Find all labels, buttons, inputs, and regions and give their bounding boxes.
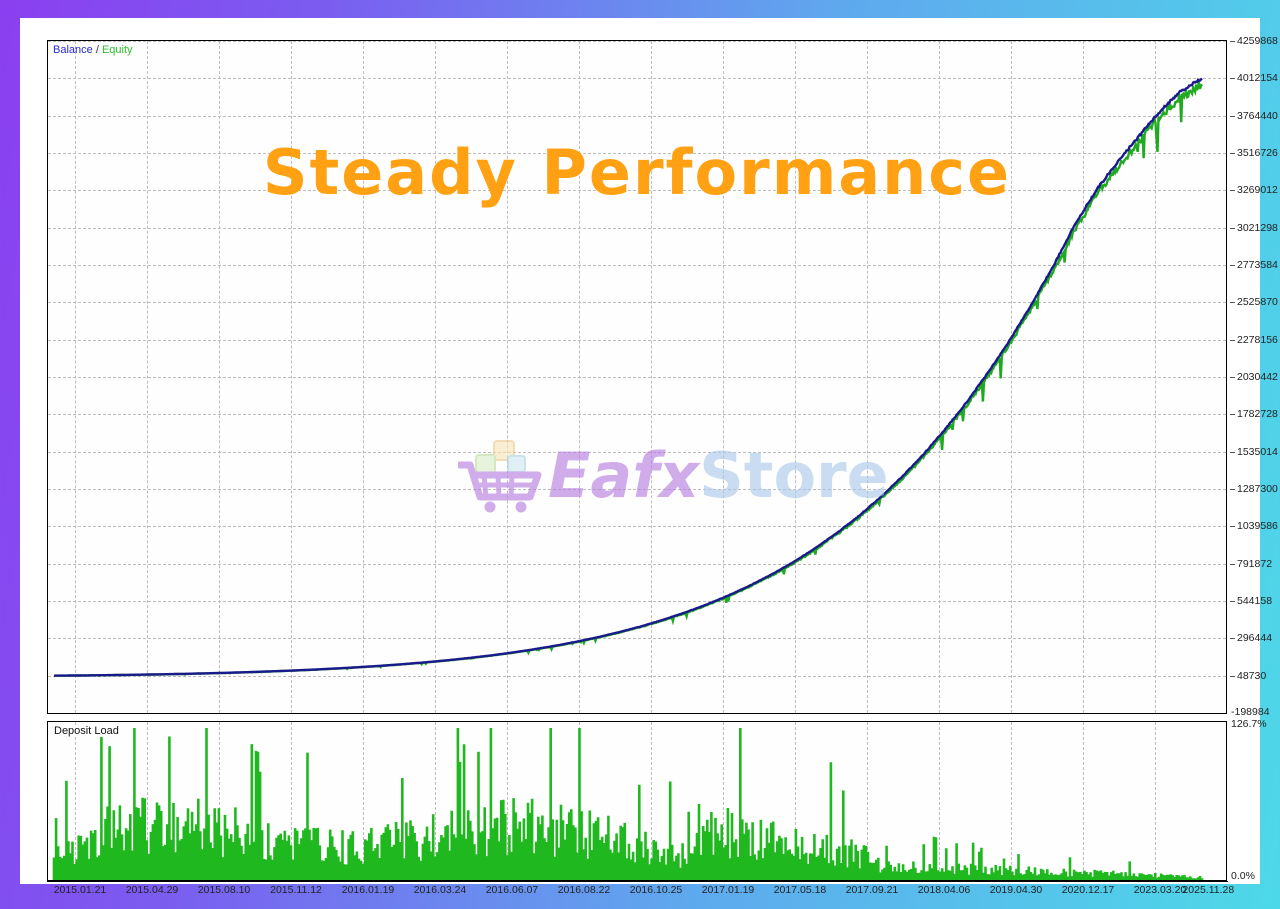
x-axis-tick: 2015.01.21 bbox=[54, 884, 107, 896]
x-axis-tick: 2017.05.18 bbox=[774, 884, 827, 896]
y-axis-tick: 3021298 bbox=[1237, 222, 1278, 234]
y-axis-tick: 48730 bbox=[1237, 670, 1266, 682]
shopping-cart-icon bbox=[458, 439, 544, 513]
y-axis-tick: 4259868 bbox=[1237, 35, 1278, 47]
y-axis-tick: 4012154 bbox=[1237, 72, 1278, 84]
x-axis-tick: 2019.04.30 bbox=[990, 884, 1043, 896]
equity-chart-panel[interactable]: Balance / Equity Steady Performance bbox=[47, 40, 1227, 714]
deposit-load-min-label: 0.0% bbox=[1231, 870, 1255, 882]
x-axis-tick: 2016.01.19 bbox=[342, 884, 395, 896]
report-frame: Balance / Equity Steady Performance bbox=[0, 0, 1280, 909]
deposit-load-max-label: 126.7% bbox=[1231, 718, 1280, 730]
x-axis-tick: 2025.11.28 bbox=[1182, 884, 1234, 896]
x-axis-tick: 2015.11.12 bbox=[270, 884, 322, 896]
chart-legend: Balance / Equity bbox=[53, 44, 133, 56]
y-axis-bottom-labels: -198984 126.7% bbox=[1231, 706, 1280, 730]
chart-title: Steady Performance bbox=[48, 136, 1226, 209]
y-axis-tick: 296444 bbox=[1237, 632, 1272, 644]
y-axis-tick: 1535014 bbox=[1237, 446, 1278, 458]
watermark-brand-primary: Eafx bbox=[548, 439, 699, 512]
x-axis-tick: 2018.04.06 bbox=[918, 884, 971, 896]
y-axis-tick: 1287300 bbox=[1237, 483, 1278, 495]
x-axis-tick: 2017.01.19 bbox=[702, 884, 755, 896]
y-axis-tick: 791872 bbox=[1237, 558, 1272, 570]
y-axis-tick: 3764440 bbox=[1237, 110, 1278, 122]
x-axis-tick: 2020.12.17 bbox=[1062, 884, 1115, 896]
x-axis-tick: 2016.03.24 bbox=[414, 884, 467, 896]
legend-separator: / bbox=[96, 44, 99, 56]
deposit-load-label: Deposit Load bbox=[53, 725, 120, 737]
y-axis: 4259868401215437644403516726326901230212… bbox=[1231, 40, 1280, 714]
deposit-load-panel[interactable]: Deposit Load bbox=[47, 721, 1227, 881]
watermark: EafxStore bbox=[458, 439, 889, 513]
y-axis-tick: 2525870 bbox=[1237, 296, 1278, 308]
y-axis-tick: 2773584 bbox=[1237, 259, 1278, 271]
x-axis-tick: 2015.04.29 bbox=[126, 884, 179, 896]
watermark-text: EafxStore bbox=[548, 445, 889, 507]
y-axis-tick: 3269012 bbox=[1237, 184, 1278, 196]
y-axis-tick: 1039586 bbox=[1237, 520, 1278, 532]
x-axis-tick: 2023.03.20 bbox=[1134, 884, 1187, 896]
y-axis-tick: 544158 bbox=[1237, 595, 1272, 607]
x-axis-tick: 2016.08.22 bbox=[558, 884, 611, 896]
x-axis-tick: 2015.08.10 bbox=[198, 884, 251, 896]
y-axis-tick: 3516726 bbox=[1237, 147, 1278, 159]
legend-balance-label: Balance bbox=[53, 44, 93, 56]
deposit-load-bars bbox=[54, 728, 1202, 880]
x-axis-tick: 2017.09.21 bbox=[846, 884, 899, 896]
legend-equity-label: Equity bbox=[102, 44, 133, 56]
x-axis-tick: 2016.06.07 bbox=[486, 884, 539, 896]
y-axis-tick: 1782728 bbox=[1237, 408, 1278, 420]
deposit-load-histogram bbox=[48, 722, 1226, 880]
chart-sheet: Balance / Equity Steady Performance bbox=[20, 18, 1260, 884]
x-axis-tick: 2016.10.25 bbox=[630, 884, 683, 896]
watermark-brand-secondary: Store bbox=[699, 439, 889, 512]
y-axis-tick: 2030442 bbox=[1237, 371, 1278, 383]
x-axis-rule bbox=[47, 881, 1228, 882]
y-axis-min-label: -198984 bbox=[1231, 706, 1280, 718]
x-axis: 2015.01.212015.04.292015.08.102015.11.12… bbox=[47, 884, 1280, 906]
y-axis-tick: 2278156 bbox=[1237, 334, 1278, 346]
